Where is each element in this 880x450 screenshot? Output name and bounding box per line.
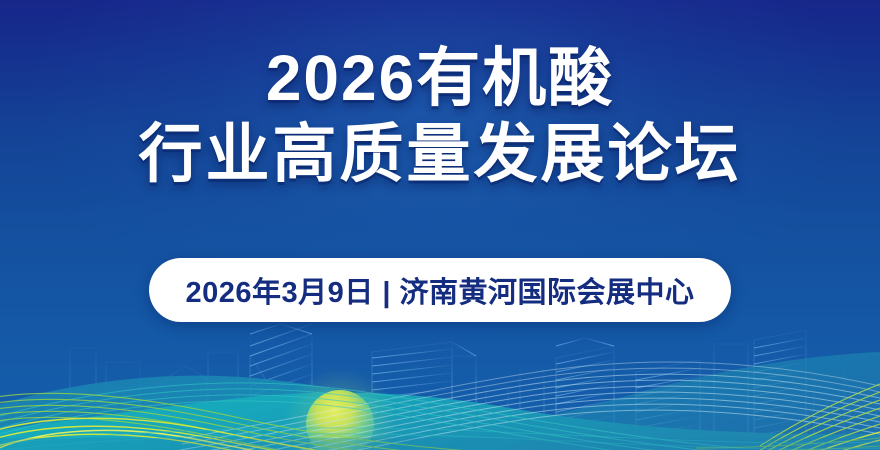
title-line-1: 2026有机酸 — [0, 46, 880, 110]
title-line-2: 行业高质量发展论坛 — [0, 122, 880, 186]
event-banner: 2026有机酸 行业高质量发展论坛 2026年3月9日 | 济南黄河国际会展中心 — [0, 0, 880, 450]
date-venue-text: 2026年3月9日 | 济南黄河国际会展中心 — [186, 269, 695, 311]
banner-content: 2026有机酸 行业高质量发展论坛 2026年3月9日 | 济南黄河国际会展中心 — [0, 0, 880, 450]
banner-title: 2026有机酸 行业高质量发展论坛 — [0, 46, 880, 186]
date-venue-pill: 2026年3月9日 | 济南黄河国际会展中心 — [149, 258, 731, 322]
